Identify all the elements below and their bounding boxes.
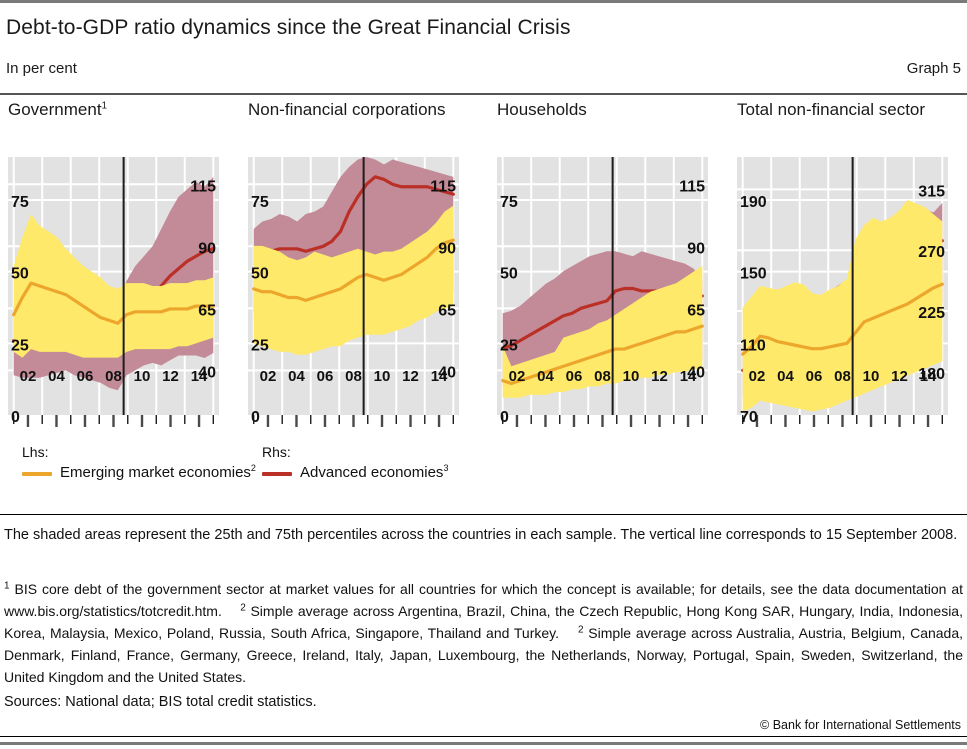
- left-axis-tick-label: 190: [740, 194, 767, 211]
- x-tick-label: 10: [863, 368, 880, 385]
- x-tick-label: 08: [594, 368, 611, 385]
- x-tick-label: 08: [834, 368, 851, 385]
- legend-swatch-advanced: [262, 472, 292, 476]
- panel-title: Government1: [8, 100, 240, 120]
- bottom-inner-rule: [0, 736, 967, 737]
- x-tick-label: 08: [105, 368, 122, 385]
- right-axis-tick-label: 90: [438, 240, 456, 257]
- left-axis-tick-label: 25: [11, 337, 29, 354]
- x-tick-label: 12: [402, 368, 419, 385]
- left-axis-tick-label: 75: [11, 194, 29, 211]
- x-tick-label: 06: [806, 368, 823, 385]
- panel-title-superscript: 1: [102, 100, 108, 111]
- legend-item-advanced: Advanced economies3: [262, 464, 448, 482]
- left-axis-tick-label: 50: [11, 266, 29, 283]
- right-axis-tick-label: 65: [198, 302, 216, 319]
- right-axis-tick-label: 270: [918, 244, 945, 261]
- footnote-marker-3: 2: [578, 624, 584, 635]
- legend-item-emerging: Emerging market economies2: [22, 464, 256, 482]
- panel-title-text: Total non-financial sector: [737, 100, 925, 119]
- right-axis-tick-label: 315: [918, 183, 945, 200]
- x-tick-label: 02: [509, 368, 526, 385]
- x-axis-labels: 02040608101214: [497, 368, 729, 394]
- x-tick-label: 12: [162, 368, 179, 385]
- bottom-rule: [0, 742, 967, 745]
- x-tick-label: 08: [345, 368, 362, 385]
- left-axis-tick-label: 70: [740, 409, 758, 426]
- legend: Lhs: Emerging market economies2 Rhs: Adv…: [0, 444, 967, 506]
- x-tick-label: 14: [191, 368, 208, 385]
- left-axis-tick-label: 0: [251, 409, 260, 426]
- x-tick-label: 06: [566, 368, 583, 385]
- x-tick-label: 06: [77, 368, 94, 385]
- right-axis-tick-label: 115: [430, 178, 456, 195]
- right-axis-tick-label: 65: [438, 302, 456, 319]
- chart-panel-2: Non-financial corporations40659011502550…: [248, 100, 480, 440]
- legend-lhs-group: Lhs: Emerging market economies2: [22, 444, 256, 482]
- panel-title: Households: [497, 100, 729, 120]
- chart-panel-4: Total non-financial sector18022527031570…: [737, 100, 967, 440]
- x-tick-label: 14: [680, 368, 697, 385]
- x-tick-label: 06: [317, 368, 334, 385]
- legend-swatch-emerging: [22, 472, 52, 476]
- x-tick-label: 02: [20, 368, 37, 385]
- top-rule: [0, 0, 967, 3]
- x-tick-label: 14: [431, 368, 448, 385]
- left-axis-tick-label: 0: [500, 409, 509, 426]
- left-axis-tick-label: 75: [251, 194, 269, 211]
- x-ticks: [14, 415, 214, 427]
- x-axis-labels: 02040608101214: [737, 368, 967, 394]
- footnote-marker-1: 1: [4, 580, 10, 591]
- x-tick-label: 12: [651, 368, 668, 385]
- footnote-marker-2: 2: [240, 602, 246, 613]
- plot-area: 4065901150255075: [8, 157, 240, 437]
- legend-rhs-group: Rhs: Advanced economies3: [262, 444, 448, 482]
- right-axis-tick-label: 65: [687, 302, 705, 319]
- right-axis-tick-label: 90: [687, 240, 705, 257]
- copyright: © Bank for International Settlements: [760, 718, 961, 732]
- legend-rhs-header: Rhs:: [262, 444, 448, 460]
- right-axis-tick-label: 90: [198, 240, 216, 257]
- right-axis-tick-label: 225: [918, 305, 945, 322]
- x-tick-label: 02: [260, 368, 277, 385]
- left-axis-tick-label: 75: [500, 194, 518, 211]
- graph-number: Graph 5: [907, 60, 961, 77]
- panel-title: Non-financial corporations: [248, 100, 480, 120]
- chart-panel-1: Government140659011502550750204060810121…: [8, 100, 240, 440]
- x-axis-labels: 02040608101214: [248, 368, 480, 394]
- plot-area: 4065901150255075: [497, 157, 729, 437]
- left-axis-tick-label: 0: [11, 409, 20, 426]
- chart-panel-3: Households406590115025507502040608101214: [497, 100, 729, 440]
- plot-area: 18022527031570110150190: [737, 157, 967, 437]
- panel-title-text: Households: [497, 100, 587, 119]
- left-axis-tick-label: 25: [251, 337, 269, 354]
- x-tick-label: 10: [134, 368, 151, 385]
- x-ticks: [743, 415, 943, 427]
- legend-label-advanced: Advanced economies3: [300, 464, 448, 482]
- x-tick-label: 04: [288, 368, 305, 385]
- plot-area: 4065901150255075: [248, 157, 480, 437]
- x-ticks: [503, 415, 703, 427]
- note-footnotes: 1 BIS core debt of the government sector…: [4, 578, 963, 688]
- x-tick-label: 04: [537, 368, 554, 385]
- x-tick-label: 04: [48, 368, 65, 385]
- x-tick-label: 04: [777, 368, 794, 385]
- x-axis-labels: 02040608101214: [8, 368, 240, 394]
- x-tick-label: 10: [374, 368, 391, 385]
- left-axis-tick-label: 50: [500, 266, 518, 283]
- x-tick-label: 12: [891, 368, 908, 385]
- units-subtitle: In per cent: [6, 60, 77, 77]
- x-tick-label: 14: [920, 368, 937, 385]
- panel-title-text: Non-financial corporations: [248, 100, 446, 119]
- header-rule: [0, 93, 967, 95]
- footnote-rule: [0, 514, 967, 515]
- page-title: Debt-to-GDP ratio dynamics since the Gre…: [6, 16, 571, 40]
- sources-line: Sources: National data; BIS total credit…: [4, 694, 317, 710]
- x-tick-label: 02: [749, 368, 766, 385]
- legend-lhs-header: Lhs:: [22, 444, 256, 460]
- panel-title: Total non-financial sector: [737, 100, 967, 120]
- right-axis-tick-label: 115: [679, 178, 705, 195]
- legend-label-emerging: Emerging market economies2: [60, 464, 256, 482]
- panel-title-text: Government: [8, 100, 102, 119]
- right-axis-tick-label: 115: [190, 178, 216, 195]
- x-tick-label: 10: [623, 368, 640, 385]
- left-axis-tick-label: 25: [500, 337, 518, 354]
- x-ticks: [254, 415, 454, 427]
- left-axis-tick-label: 110: [740, 337, 766, 354]
- left-axis-tick-label: 150: [740, 266, 767, 283]
- left-axis-tick-label: 50: [251, 266, 269, 283]
- graph-page: Debt-to-GDP ratio dynamics since the Gre…: [0, 0, 967, 749]
- note-main: The shaded areas represent the 25th and …: [4, 524, 963, 547]
